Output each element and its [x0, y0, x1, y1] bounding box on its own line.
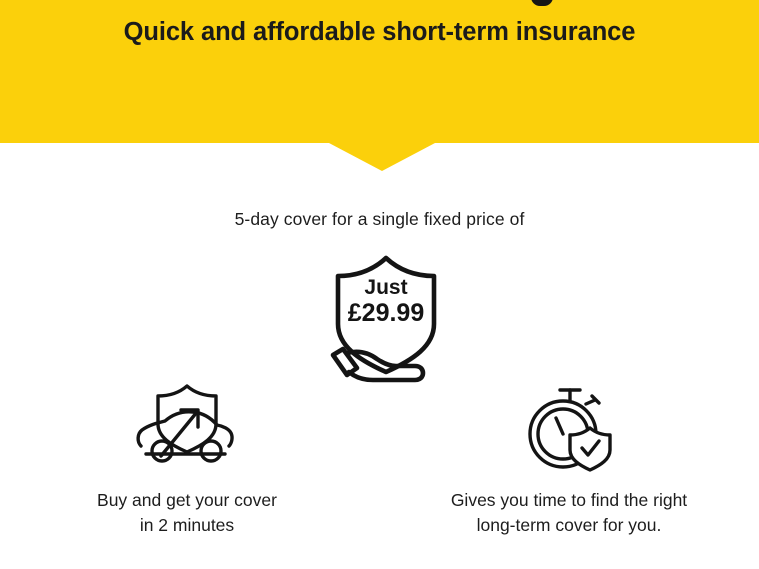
clipped-headline-glyph — [531, 0, 553, 6]
feature-caption-line-2: in 2 minutes — [22, 513, 352, 538]
feature-caption-line-1: Gives you time to find the right — [404, 488, 734, 513]
shield-in-hand-icon — [311, 250, 461, 390]
feature-caption: Gives you time to find the right long-te… — [404, 488, 734, 539]
downward-notch-arrow-icon — [329, 143, 435, 171]
feature-caption-line-2: long-term cover for you. — [404, 513, 734, 538]
insurance-promo-page: Quick and affordable short-term insuranc… — [0, 0, 759, 569]
stopwatch-with-shield-check-icon — [404, 378, 734, 474]
feature-buy-fast: Buy and get your cover in 2 minutes — [22, 378, 352, 539]
feature-caption: Buy and get your cover in 2 minutes — [22, 488, 352, 539]
hero-label: 5-day cover for a single fixed price of — [0, 209, 759, 230]
car-with-shield-arrow-icon — [22, 378, 352, 474]
feature-caption-line-1: Buy and get your cover — [22, 488, 352, 513]
header-banner: Quick and affordable short-term insuranc… — [0, 0, 759, 143]
feature-time-to-choose: Gives you time to find the right long-te… — [404, 378, 734, 539]
banner-subtitle: Quick and affordable short-term insuranc… — [0, 18, 759, 47]
